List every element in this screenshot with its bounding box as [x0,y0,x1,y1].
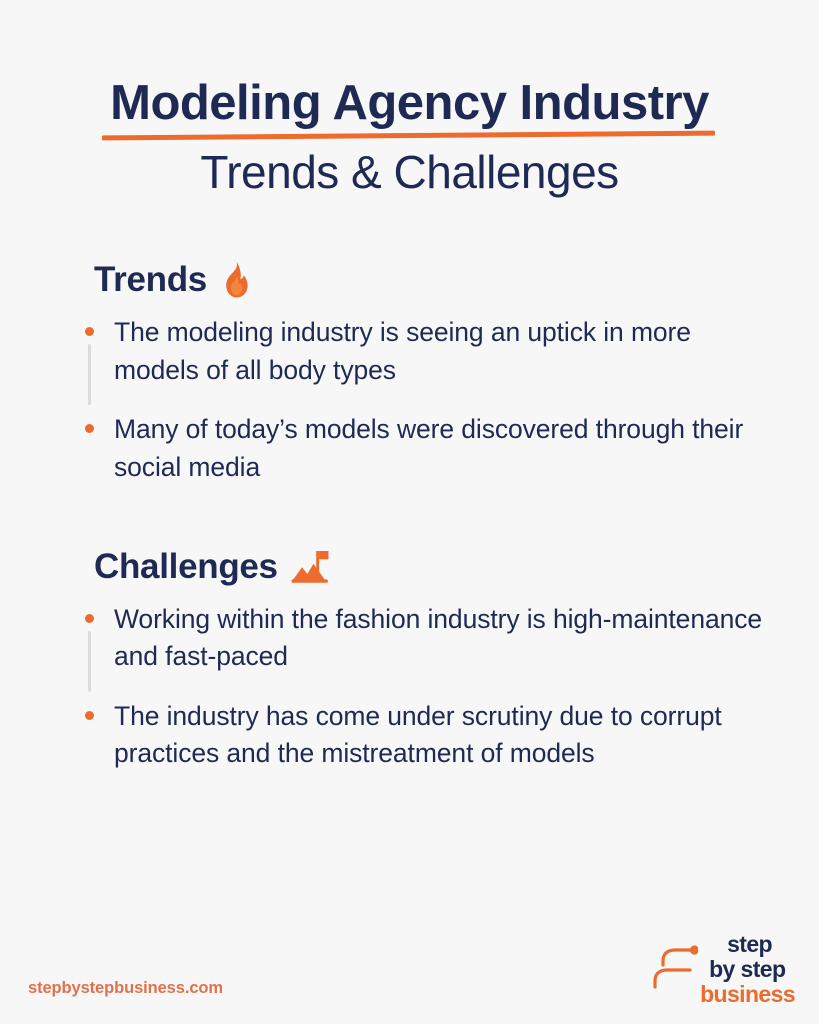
list-item: The industry has come under scrutiny due… [74,698,779,773]
header: Modeling Agency Industry Trends & Challe… [0,0,819,198]
bullet-dot-icon [85,614,94,623]
bullet-dot-icon [85,711,94,720]
title-underline [102,131,715,141]
page-title: Modeling Agency Industry [102,78,717,129]
bullet-list-challenges: Working within the fashion industry is h… [74,601,779,774]
page-subtitle: Trends & Challenges [0,147,819,198]
bullet-connector-line [88,631,91,692]
sections-container: Trends The modeling industry is seeing a… [0,260,819,773]
infographic-canvas: Modeling Agency Industry Trends & Challe… [0,0,819,1024]
bullet-text: The industry has come under scrutiny due… [114,701,722,769]
logo-bracket-icon [650,943,698,1005]
bullet-dot-icon [85,327,94,336]
list-item: The modeling industry is seeing an uptic… [74,314,779,389]
footer-website-url[interactable]: stepbystepbusiness.com [28,979,223,998]
bullet-text: Working within the fashion industry is h… [114,604,762,672]
logo-wordmark: step by step business [700,933,795,1006]
list-item: Working within the fashion industry is h… [74,601,779,676]
section-title-trends: Trends [94,260,207,300]
section-challenges: Challenges Working within the fashion in… [74,547,779,774]
bullet-connector-line [88,344,91,405]
logo-line-by-step: by step [709,958,785,981]
section-title-challenges: Challenges [94,547,278,587]
bullet-text: The modeling industry is seeing an uptic… [114,317,691,385]
section-heading-challenges: Challenges [94,547,779,587]
list-item: Many of today’s models were discovered t… [74,411,779,486]
section-heading-trends: Trends [94,260,779,300]
bullet-text: Many of today’s models were discovered t… [114,414,743,482]
bullet-list-trends: The modeling industry is seeing an uptic… [74,314,779,487]
section-trends: Trends The modeling industry is seeing a… [74,260,779,487]
bullet-dot-icon [85,424,94,433]
logo-line-business: business [700,983,795,1006]
footer: stepbystepbusiness.com step by step busi… [0,904,819,1024]
logo-line-step: step [727,933,772,956]
title-wrap: Modeling Agency Industry [102,78,717,129]
mountain-flag-icon [290,547,330,587]
brand-logo[interactable]: step by step business [650,933,795,1006]
fire-icon [219,260,253,300]
